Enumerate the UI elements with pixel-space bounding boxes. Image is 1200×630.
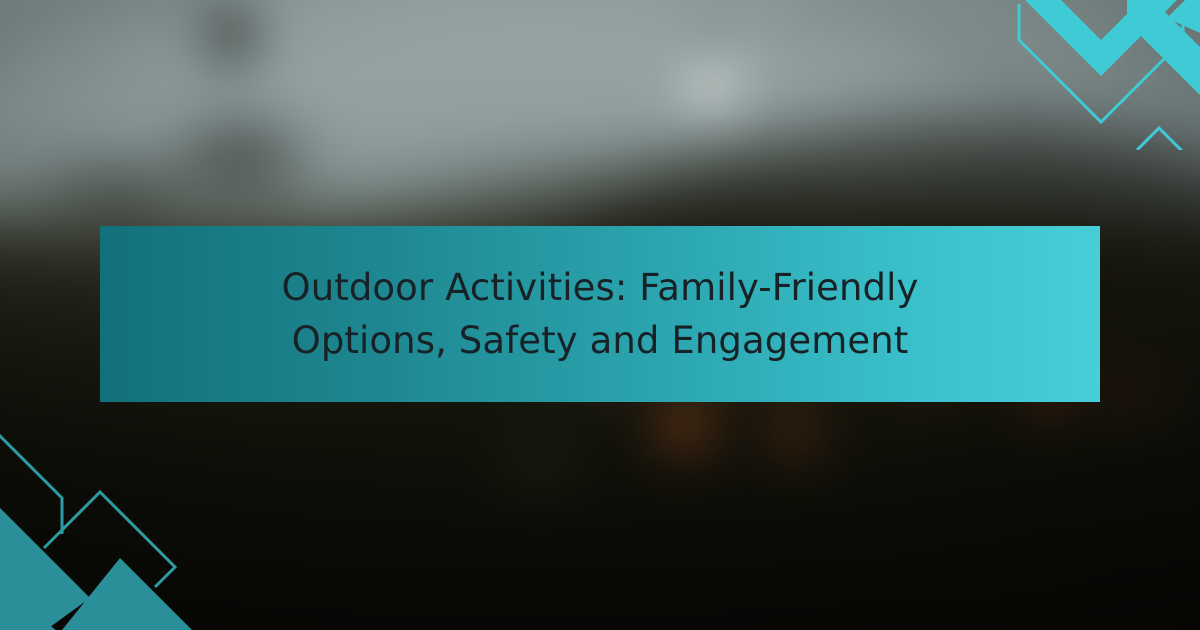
solid-triangle-large-icon: [0, 508, 90, 630]
decoration-bottom-left: [0, 430, 220, 630]
outline-chevron-small-icon: [1137, 128, 1200, 150]
decoration-top-right: [1015, 0, 1200, 150]
title-banner: Outdoor Activities: Family-Friendly Opti…: [100, 226, 1100, 402]
page-title: Outdoor Activities: Family-Friendly Opti…: [174, 261, 1026, 368]
og-image-canvas: Outdoor Activities: Family-Friendly Opti…: [0, 0, 1200, 630]
